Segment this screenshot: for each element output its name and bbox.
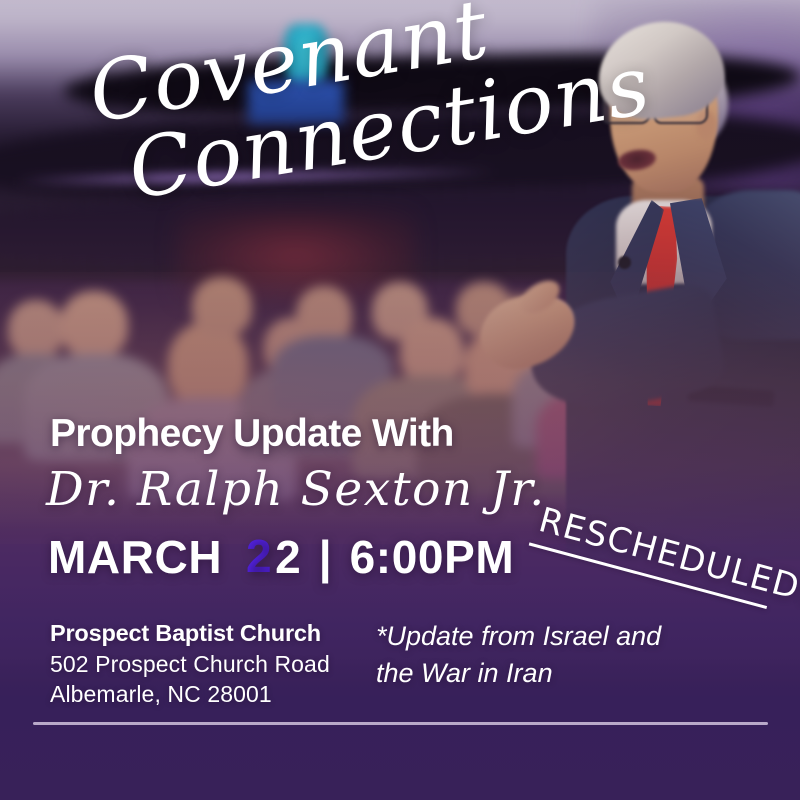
venue-city-state-zip: Albemarle, NC 28001: [50, 679, 330, 709]
event-day: 22: [249, 530, 301, 584]
event-month: MARCH: [48, 531, 222, 583]
rescheduled-stamp: RESCHEDULED!: [533, 500, 800, 620]
datetime-separator: |: [315, 530, 336, 584]
event-note-line-1: *Update from Israel and: [376, 618, 676, 655]
event-note: *Update from Israel and the War in Iran: [376, 618, 676, 691]
event-title: Covenant Connections: [84, 0, 574, 216]
venue-name: Prospect Baptist Church: [50, 618, 330, 649]
venue-street: 502 Prospect Church Road: [50, 649, 330, 679]
event-day-digit-2: 2: [275, 531, 301, 583]
event-time: 6:00PM: [350, 531, 515, 583]
page-headline: Prophecy Update With: [50, 412, 454, 456]
flyer-canvas: Covenant Connections Prophecy Update Wit…: [0, 0, 800, 800]
bottom-divider: [33, 722, 768, 725]
flyer-content: Covenant Connections Prophecy Update Wit…: [0, 0, 800, 800]
event-note-line-2: the War in Iran: [376, 655, 676, 692]
speaker-name: Dr. Ralph Sexton Jr.: [46, 462, 546, 517]
event-datetime: MARCH 22 | 6:00PM: [48, 530, 514, 584]
venue-address: Prospect Baptist Church 502 Prospect Chu…: [50, 618, 330, 710]
event-day-digit-1: 2: [249, 531, 275, 583]
